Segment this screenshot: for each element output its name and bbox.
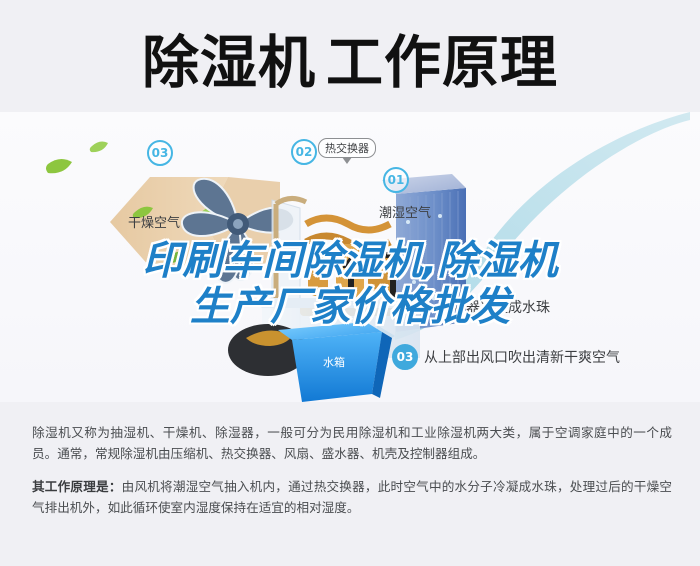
step-label-01: 潮湿空气	[379, 202, 431, 221]
description-section: 除湿机又称为抽湿机、干燥机、除湿器，一般可分为民用除湿机和工业除湿机两大类，属于…	[0, 408, 700, 566]
page-title: 除湿机工作原理	[142, 35, 558, 92]
step-badge-03: 03	[147, 140, 173, 166]
page-header: 除湿机工作原理	[0, 22, 700, 104]
water-tank-label: 水箱	[323, 354, 345, 370]
note-badge-03: 03	[392, 344, 418, 370]
page-title-part1: 除湿机	[142, 30, 316, 96]
working-principle-illustration: 03 干燥空气 02 热交换器 01 潮湿空气 水箱 02 发器冷凝成水珠 03…	[0, 112, 700, 402]
note-03: 03 从上部出风口吹出清新干爽空气	[392, 344, 620, 370]
page-title-part2: 工作原理	[326, 30, 558, 96]
description-paragraph-1: 除湿机又称为抽湿机、干燥机、除湿器，一般可分为民用除湿机和工业除湿机两大类，属于…	[32, 422, 672, 464]
note-text-02: 发器冷凝成水珠	[452, 297, 550, 317]
description-paragraph-2-label: 其工作原理是：	[32, 479, 122, 494]
description-paragraph-2-text: 由风机将潮湿空气抽入机内，通过热交换器，此时空气中的水分子冷凝成水珠，处理过后的…	[32, 479, 672, 515]
note-text-03: 从上部出风口吹出清新干爽空气	[424, 347, 620, 367]
step-badge-01: 01	[383, 167, 409, 193]
step-label-03: 干燥空气	[128, 212, 180, 231]
page-root: 除湿机工作原理	[0, 0, 700, 566]
note-02: 02 发器冷凝成水珠	[420, 294, 550, 320]
description-paragraph-2: 其工作原理是：由风机将潮湿空气抽入机内，通过热交换器，此时空气中的水分子冷凝成水…	[32, 476, 672, 518]
step-badge-02: 02	[291, 139, 317, 165]
step-label-02-bubble: 热交换器	[318, 138, 376, 158]
